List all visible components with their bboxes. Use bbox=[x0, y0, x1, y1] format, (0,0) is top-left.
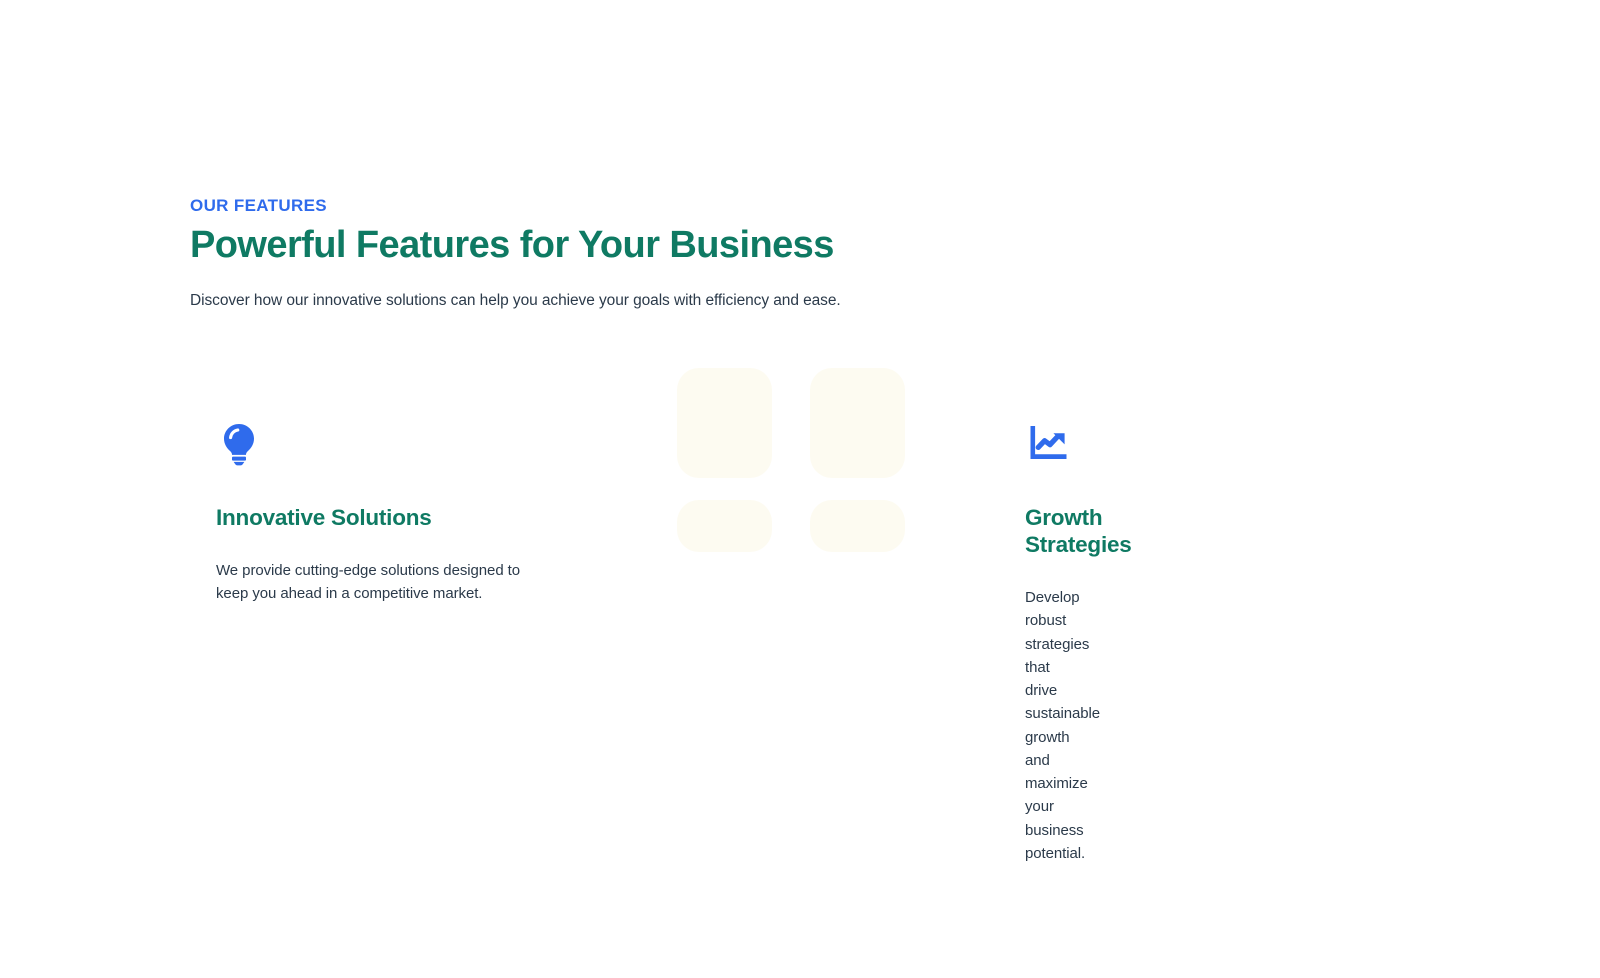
lightbulb-icon bbox=[216, 420, 262, 466]
feature-card-innovative-solutions: Innovative Solutions We provide cutting-… bbox=[190, 420, 595, 915]
feature-title: Innovative Solutions bbox=[216, 504, 595, 531]
feature-card-secure-reliable: Secure & Reliable Rest assured with our … bbox=[1000, 420, 1405, 915]
section-subtitle: Discover how our innovative solutions ca… bbox=[190, 290, 841, 312]
section-eyebrow: OUR FEATURES bbox=[190, 196, 841, 216]
section-header: OUR FEATURES Powerful Features for Your … bbox=[190, 196, 841, 312]
features-row: Innovative Solutions We provide cutting-… bbox=[190, 420, 1410, 915]
feature-description: We provide cutting-edge solutions design… bbox=[216, 559, 536, 606]
feature-card-growth-strategies: Growth Strategies Develop robust strateg… bbox=[595, 420, 1000, 915]
page-title: Powerful Features for Your Business bbox=[190, 224, 841, 268]
